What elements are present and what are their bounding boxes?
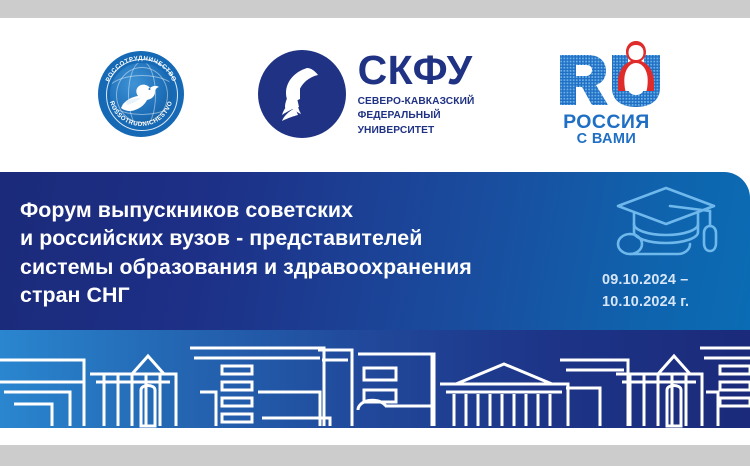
skfu-logo: СКФУ СЕВЕРО-КАВКАЗСКИЙ ФЕДЕРАЛЬНЫЙ УНИВЕ… bbox=[258, 50, 475, 139]
city-skyline bbox=[0, 330, 750, 428]
poster-bottom-margin bbox=[0, 428, 750, 445]
ru-caption-s-vami: С ВАМИ bbox=[548, 131, 664, 147]
skfu-subtitle-line-3: УНИВЕРСИТЕТ bbox=[358, 124, 475, 138]
skfu-subtitle-line-1: СЕВЕРО-КАВКАЗСКИЙ bbox=[358, 95, 475, 109]
banner-title-line-3: системы образования и здравоохранения bbox=[20, 253, 620, 281]
skfu-text-block: СКФУ СЕВЕРО-КАВКАЗСКИЙ ФЕДЕРАЛЬНЫЙ УНИВЕ… bbox=[358, 50, 475, 139]
graduation-cap-with-diploma-icon bbox=[604, 180, 728, 266]
ru-mark-icon bbox=[548, 39, 664, 115]
event-dates: 09.10.2024 – 10.10.2024 г. bbox=[602, 270, 734, 313]
poster-page: РОССОТРУДНИЧЕСТВО ROSSOTRUDNICHESTVO bbox=[0, 0, 750, 466]
skfu-emblem-circle bbox=[258, 50, 346, 138]
event-date-start: 09.10.2024 – bbox=[602, 270, 734, 292]
dove-icon bbox=[118, 77, 164, 117]
city-skyline-icon bbox=[0, 330, 750, 428]
skfu-wing-icon bbox=[276, 66, 330, 124]
viewer-bottom-bar bbox=[0, 445, 750, 466]
viewer-top-bar bbox=[0, 0, 750, 18]
skfu-abbreviation: СКФУ bbox=[358, 50, 475, 90]
ru-rossiya-logo: РОССИЯ С ВАМИ bbox=[548, 39, 664, 149]
skfu-subtitle-line-2: ФЕДЕРАЛЬНЫЙ bbox=[358, 109, 475, 123]
banner-title-line-1: Форум выпускников советских bbox=[20, 196, 620, 224]
rossotrudnichestvo-logo: РОССОТРУДНИЧЕСТВО ROSSOTRUDNICHESTVO bbox=[98, 51, 184, 137]
banner-title-line-2: и российских вузов - представителей bbox=[20, 224, 620, 252]
logo-row: РОССОТРУДНИЧЕСТВО ROSSOTRUDNICHESTVO bbox=[98, 39, 665, 149]
event-date-end: 10.10.2024 г. bbox=[602, 292, 734, 314]
skfu-subtitle: СЕВЕРО-КАВКАЗСКИЙ ФЕДЕРАЛЬНЫЙ УНИВЕРСИТЕ… bbox=[358, 95, 475, 138]
logo-header: РОССОТРУДНИЧЕСТВО ROSSOTRUDNICHESTVO bbox=[0, 18, 750, 170]
event-banner: Форум выпускников советских и российских… bbox=[0, 172, 750, 330]
banner-title-line-4: стран СНГ bbox=[20, 281, 620, 309]
banner-title: Форум выпускников советских и российских… bbox=[20, 196, 620, 310]
